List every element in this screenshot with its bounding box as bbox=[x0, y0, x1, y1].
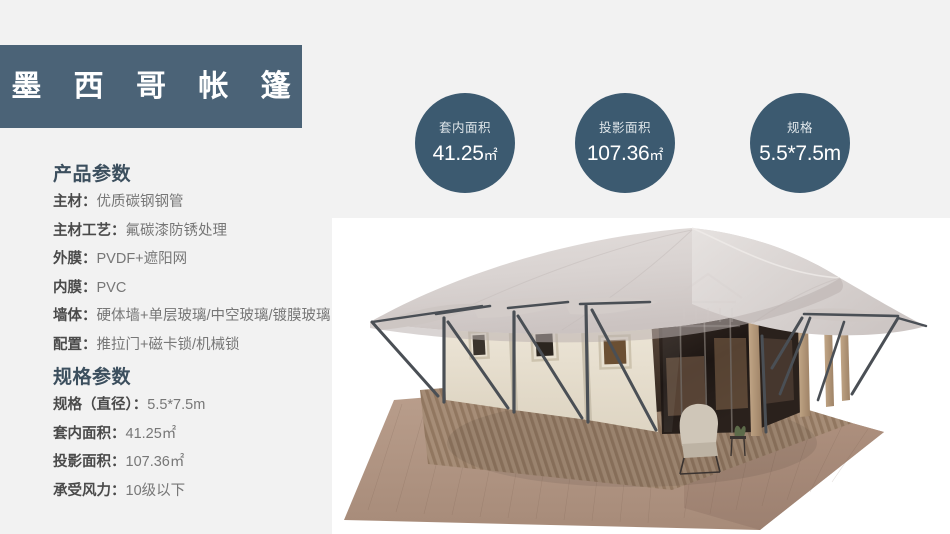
spec-row: 主材工艺：氟碳漆防锈处理 bbox=[53, 224, 331, 239]
stat-badge-interior-area: 套内面积 41.25㎡ bbox=[415, 93, 515, 193]
spec-label: 主材工艺： bbox=[53, 223, 126, 239]
spec-value: PVC bbox=[97, 280, 127, 296]
spec-label: 套内面积： bbox=[53, 426, 126, 442]
spec-value: 5.5*7.5m bbox=[147, 397, 205, 413]
spec-value: 107.36㎡ bbox=[126, 454, 185, 470]
spec-value: 氟碳漆防锈处理 bbox=[126, 223, 228, 239]
spec-value: PVDF+遮阳网 bbox=[97, 251, 188, 267]
stat-badge-value: 107.36㎡ bbox=[587, 143, 663, 164]
spec-value: 41.25㎡ bbox=[126, 426, 177, 442]
stat-badge-value: 41.25㎡ bbox=[433, 143, 498, 164]
page-title: 墨 西 哥 帐 篷 bbox=[0, 72, 303, 102]
page-root: 墨 西 哥 帐 篷 产品参数 主材：优质碳钢钢管 主材工艺：氟碳漆防锈处理 外膜… bbox=[0, 0, 950, 534]
spec-label: 承受风力： bbox=[53, 483, 126, 499]
spec-value: 硬体墙+单层玻璃/中空玻璃/镀膜玻璃 bbox=[97, 308, 331, 324]
spec-row: 外膜：PVDF+遮阳网 bbox=[53, 252, 331, 267]
stat-badge-value: 5.5*7.5m bbox=[759, 143, 841, 164]
spec-label: 外膜： bbox=[53, 251, 97, 267]
spec-label: 墙体： bbox=[53, 308, 97, 324]
tent-render-image bbox=[332, 218, 950, 534]
spec-label: 配置： bbox=[53, 337, 97, 353]
title-banner: 墨 西 哥 帐 篷 bbox=[0, 45, 302, 128]
stat-badge-projected-area: 投影面积 107.36㎡ bbox=[575, 93, 675, 193]
spec-row: 投影面积：107.36㎡ bbox=[53, 455, 205, 470]
spec-label: 规格（直径）： bbox=[53, 397, 147, 413]
product-parameters-heading: 产品参数 bbox=[53, 165, 331, 184]
stat-badge-unit: ㎡ bbox=[484, 147, 498, 163]
stat-badge-label: 规格 bbox=[787, 122, 813, 135]
spec-label: 主材： bbox=[53, 194, 97, 210]
stat-badge-unit: ㎡ bbox=[649, 147, 663, 163]
stat-badge-dimensions: 规格 5.5*7.5m bbox=[750, 93, 850, 193]
spec-row: 承受风力：10级以下 bbox=[53, 484, 205, 499]
spec-row: 配置：推拉门+磁卡锁/机械锁 bbox=[53, 338, 331, 353]
spec-label: 内膜： bbox=[53, 280, 97, 296]
stat-badge-number: 5.5*7.5m bbox=[759, 142, 841, 165]
stat-badge-number: 107.36 bbox=[587, 142, 649, 165]
stat-badge-label: 投影面积 bbox=[599, 122, 651, 135]
spec-row: 套内面积：41.25㎡ bbox=[53, 427, 205, 442]
spec-row: 规格（直径）：5.5*7.5m bbox=[53, 398, 205, 413]
stat-badge-label: 套内面积 bbox=[439, 122, 491, 135]
spec-value: 推拉门+磁卡锁/机械锁 bbox=[97, 337, 240, 353]
spec-label: 投影面积： bbox=[53, 454, 126, 470]
spec-row: 主材：优质碳钢钢管 bbox=[53, 195, 331, 210]
spec-value: 优质碳钢钢管 bbox=[97, 194, 184, 210]
spec-row: 墙体：硬体墙+单层玻璃/中空玻璃/镀膜玻璃 bbox=[53, 309, 331, 324]
spec-row: 内膜：PVC bbox=[53, 281, 331, 296]
size-parameters-heading: 规格参数 bbox=[53, 368, 205, 387]
stat-badge-number: 41.25 bbox=[433, 142, 484, 165]
spec-value: 10级以下 bbox=[126, 483, 186, 499]
size-parameters-section: 规格参数 规格（直径）：5.5*7.5m 套内面积：41.25㎡ 投影面积：10… bbox=[53, 368, 205, 512]
product-parameters-section: 产品参数 主材：优质碳钢钢管 主材工艺：氟碳漆防锈处理 外膜：PVDF+遮阳网 … bbox=[53, 165, 331, 366]
